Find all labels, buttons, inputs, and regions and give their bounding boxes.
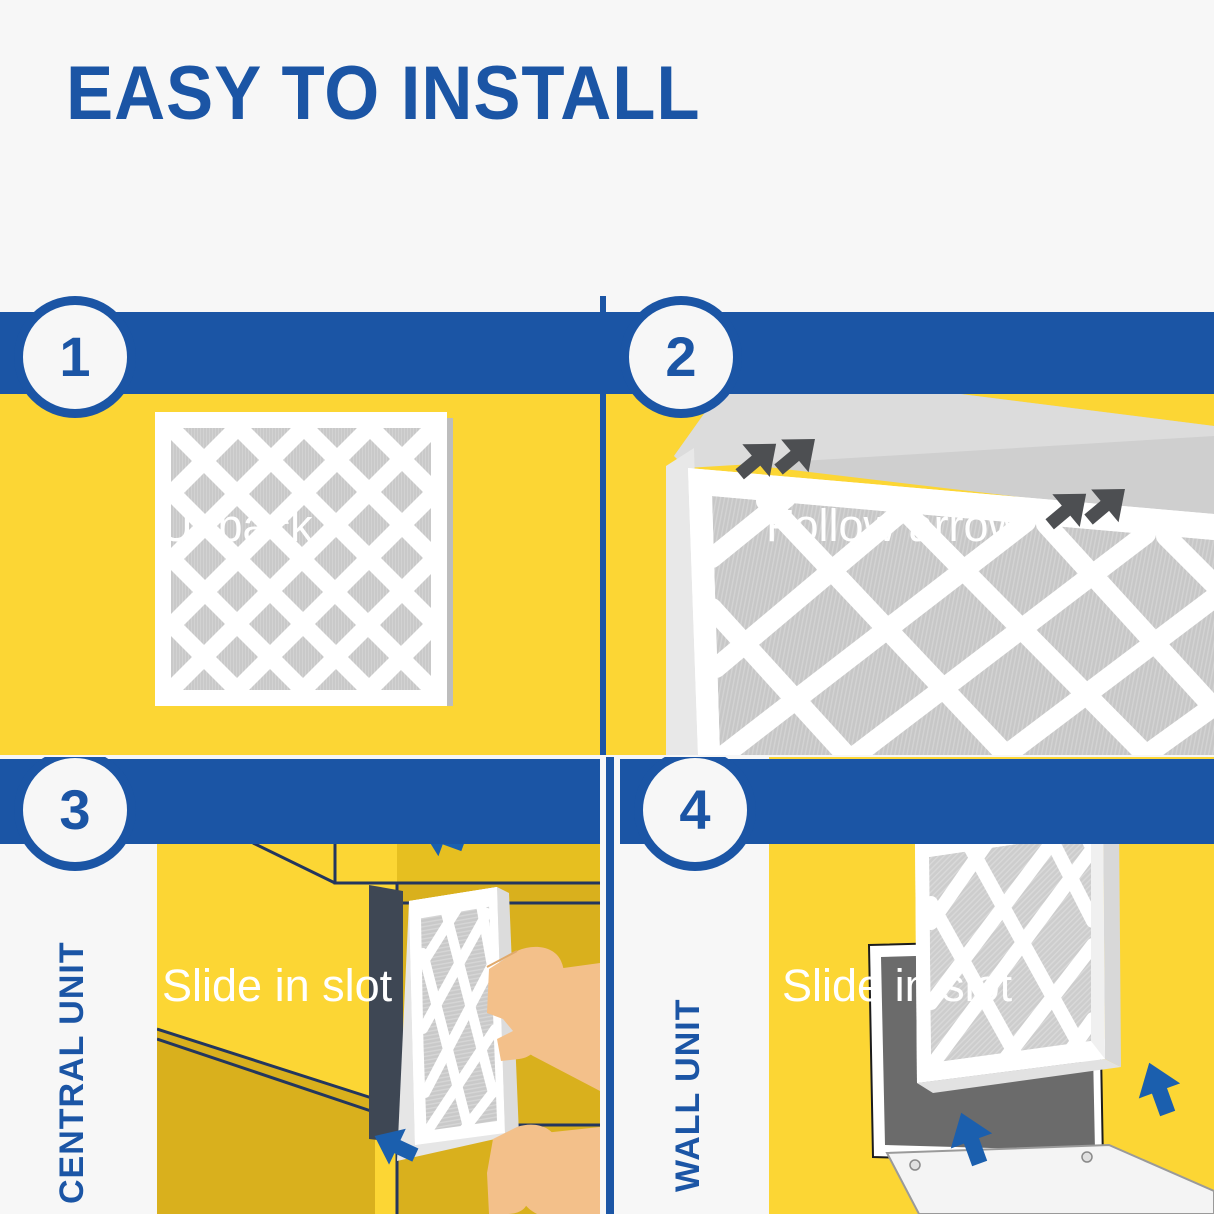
panel-divider-vertical-bottom (606, 757, 614, 1214)
step-panel-4: 4 Slide in slot WALL UNIT (620, 757, 1214, 1214)
hand-icon (487, 1125, 600, 1214)
step-3-side-label: CENTRAL UNIT (53, 941, 92, 1204)
step-2-illustration-area (606, 394, 1214, 755)
panel-divider-vertical-top (600, 296, 606, 755)
step-3-illustration-area (157, 843, 600, 1214)
step-4-number-badge: 4 (634, 757, 756, 871)
step-1-number-badge: 1 (14, 296, 136, 418)
page-title: EASY TO INSTALL (66, 56, 700, 132)
step-2-label: Follow arrow (766, 500, 1021, 552)
step-1-illustration-area (0, 394, 600, 755)
step-4-illustration-area (769, 843, 1214, 1214)
step-panel-1: 1 Unpack (0, 296, 600, 755)
step-4-label: Slide in slot (782, 960, 1012, 1012)
step-1-label: Unpack (160, 500, 313, 552)
infographic-page: EASY TO INSTALL (0, 0, 1214, 1214)
step-2-number-badge: 2 (620, 296, 742, 418)
step-panel-3: 3 Slide in slot CENTRAL UNIT (0, 757, 600, 1214)
step-3-number-badge: 3 (14, 757, 136, 871)
hands-inserting-filter-icon (157, 843, 600, 1214)
air-filter-flat-icon (0, 394, 600, 755)
step-panel-2: 2 Follow arrow (606, 296, 1214, 755)
step-4-side-label: WALL UNIT (669, 999, 708, 1192)
step-3-label: Slide in slot (162, 960, 392, 1012)
